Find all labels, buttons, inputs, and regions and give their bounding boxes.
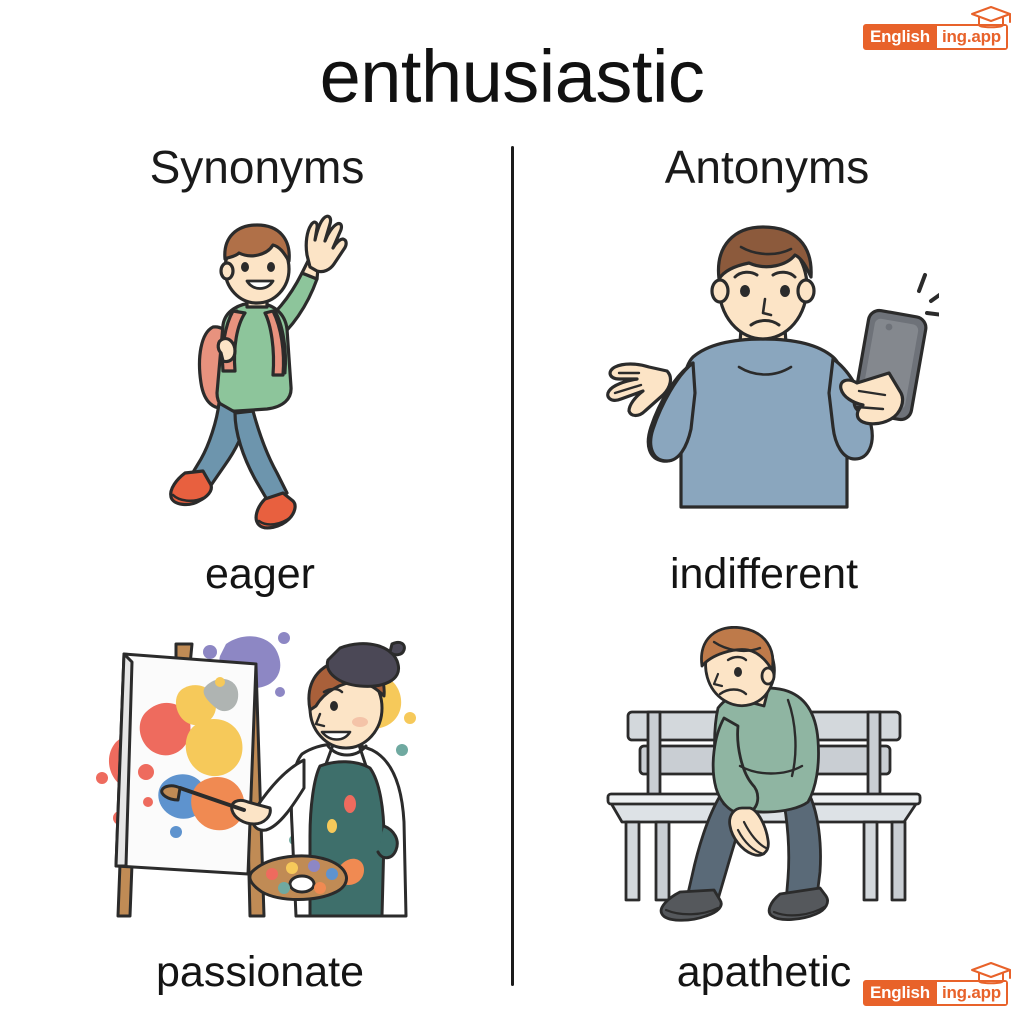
column-divider	[511, 146, 514, 986]
graduation-cap-icon	[970, 5, 1012, 31]
cell-label-apathetic: apathetic	[677, 946, 852, 998]
graduation-cap-icon	[970, 961, 1012, 987]
dejected-man-on-bench-illustration	[524, 608, 1004, 944]
antonym-cell-apathetic: apathetic	[524, 608, 1004, 998]
cell-label-indifferent: indifferent	[670, 548, 858, 600]
watermark-logo-top[interactable]: English ing.app	[863, 24, 1008, 50]
shrugging-man-illustration	[524, 200, 1004, 544]
antonyms-column-header: Antonyms	[522, 138, 1012, 196]
cell-label-eager: eager	[205, 548, 315, 600]
synonym-cell-passionate: passionate	[20, 608, 500, 998]
watermark-logo-bottom[interactable]: English ing.app	[863, 980, 1008, 1006]
cell-label-passionate: passionate	[156, 946, 364, 998]
watermark-logo-english: English	[865, 982, 935, 1004]
synonym-cell-eager: eager	[20, 200, 500, 600]
vocabulary-card: enthusiastic Synonyms Antonyms	[0, 0, 1024, 1024]
artist-painting-illustration	[20, 608, 500, 944]
jumping-boy-illustration	[20, 200, 500, 544]
synonyms-column-header: Synonyms	[12, 138, 502, 196]
watermark-logo-english: English	[865, 26, 935, 48]
antonym-cell-indifferent: indifferent	[524, 200, 1004, 600]
